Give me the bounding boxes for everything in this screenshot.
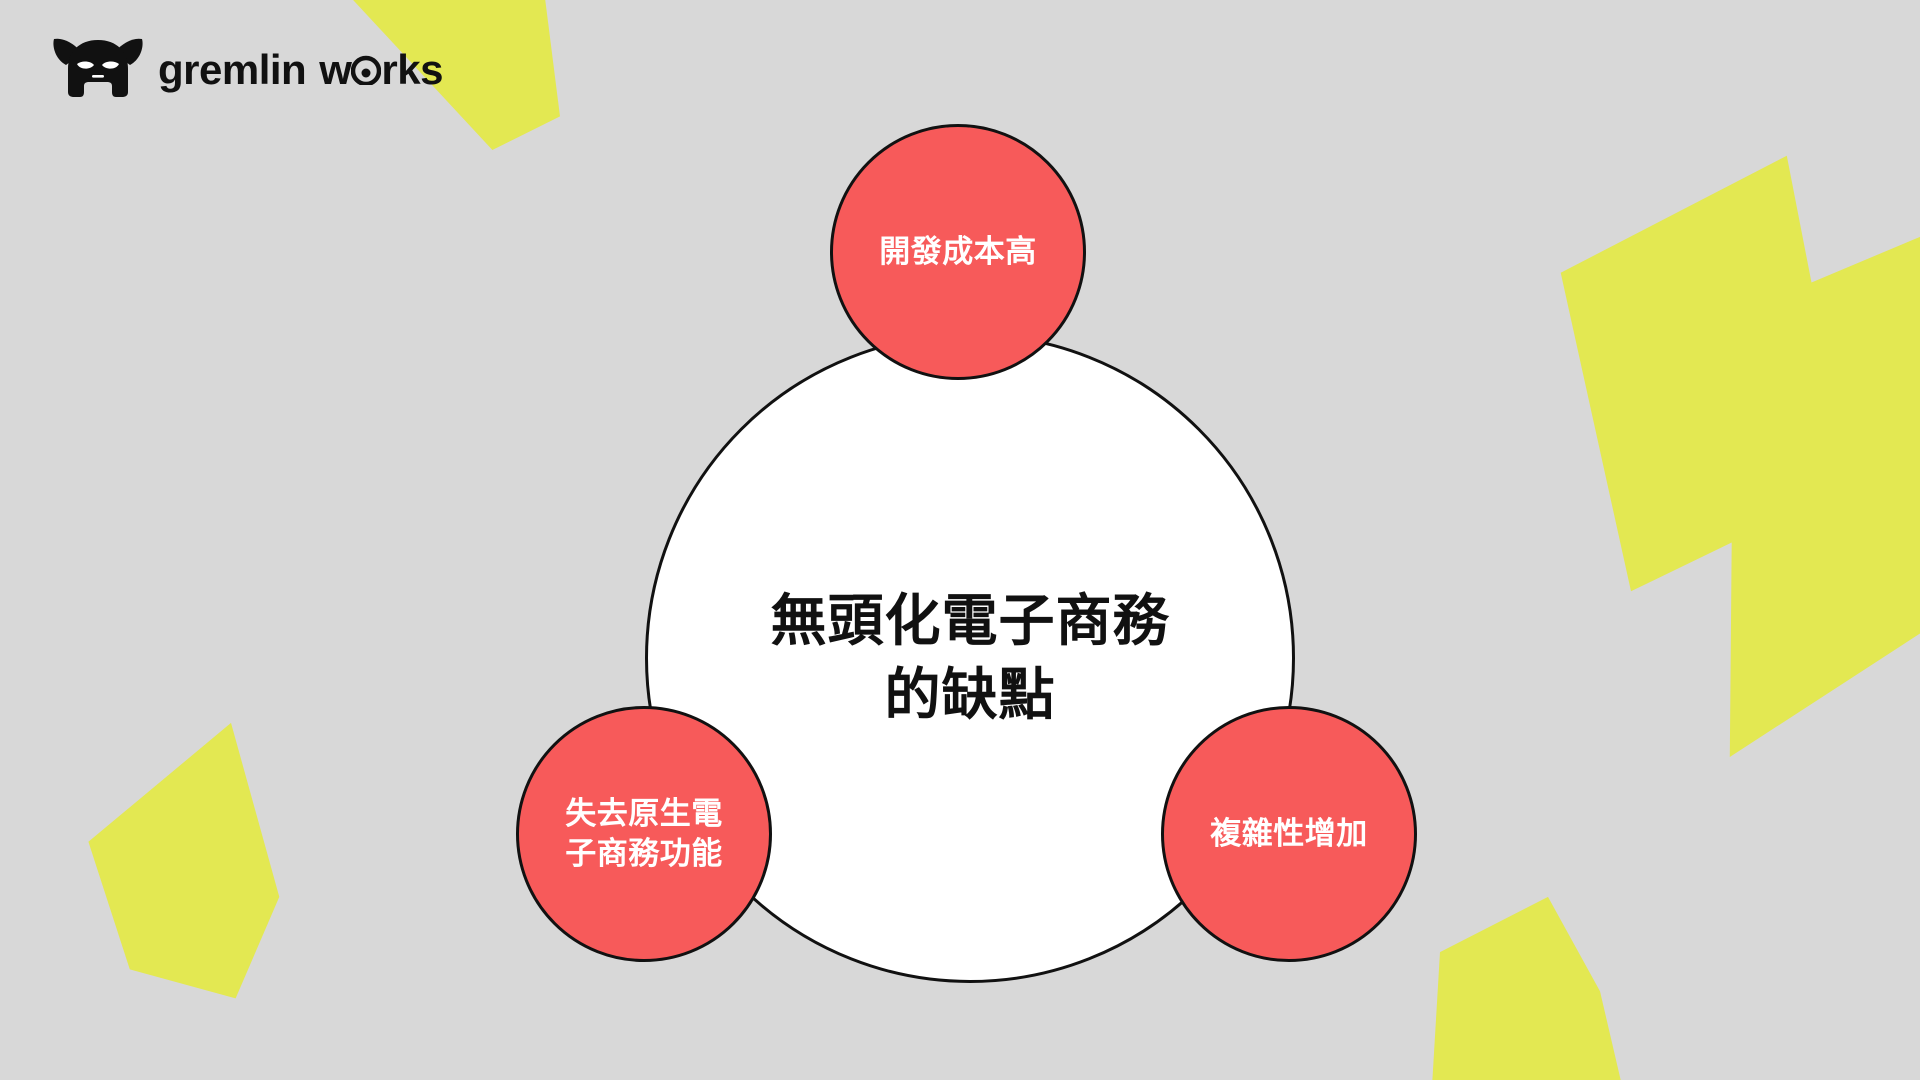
satellite-node-bottom-left[interactable]: 失去原生電 子商務功能 bbox=[516, 706, 772, 962]
satellite-node-bottom-left-label-line1: 失去原生電 bbox=[565, 796, 723, 831]
satellite-node-bottom-left-label: 失去原生電 子商務功能 bbox=[565, 794, 723, 875]
satellite-node-bottom-left-label-line2: 子商務功能 bbox=[565, 836, 723, 871]
center-node-label-line1: 無頭化電子商務 bbox=[771, 589, 1170, 652]
hub-and-spoke-diagram: 開發成本高 無頭化電子商務 的缺點 失去原生電 子商務功能 複雜性增加 bbox=[0, 0, 1920, 1080]
satellite-node-top[interactable]: 開發成本高 bbox=[830, 124, 1086, 380]
satellite-node-bottom-right[interactable]: 複雜性增加 bbox=[1161, 706, 1417, 962]
satellite-node-top-label: 開發成本高 bbox=[879, 232, 1037, 272]
slide-canvas: gremlin w rks 開發成本高 無頭化電子商務 的缺點 失去原生 bbox=[0, 0, 1920, 1080]
center-node-label: 無頭化電子商務 的缺點 bbox=[771, 584, 1170, 732]
center-node-label-line2: 的缺點 bbox=[885, 663, 1056, 726]
satellite-node-bottom-right-label: 複雜性增加 bbox=[1210, 814, 1368, 854]
